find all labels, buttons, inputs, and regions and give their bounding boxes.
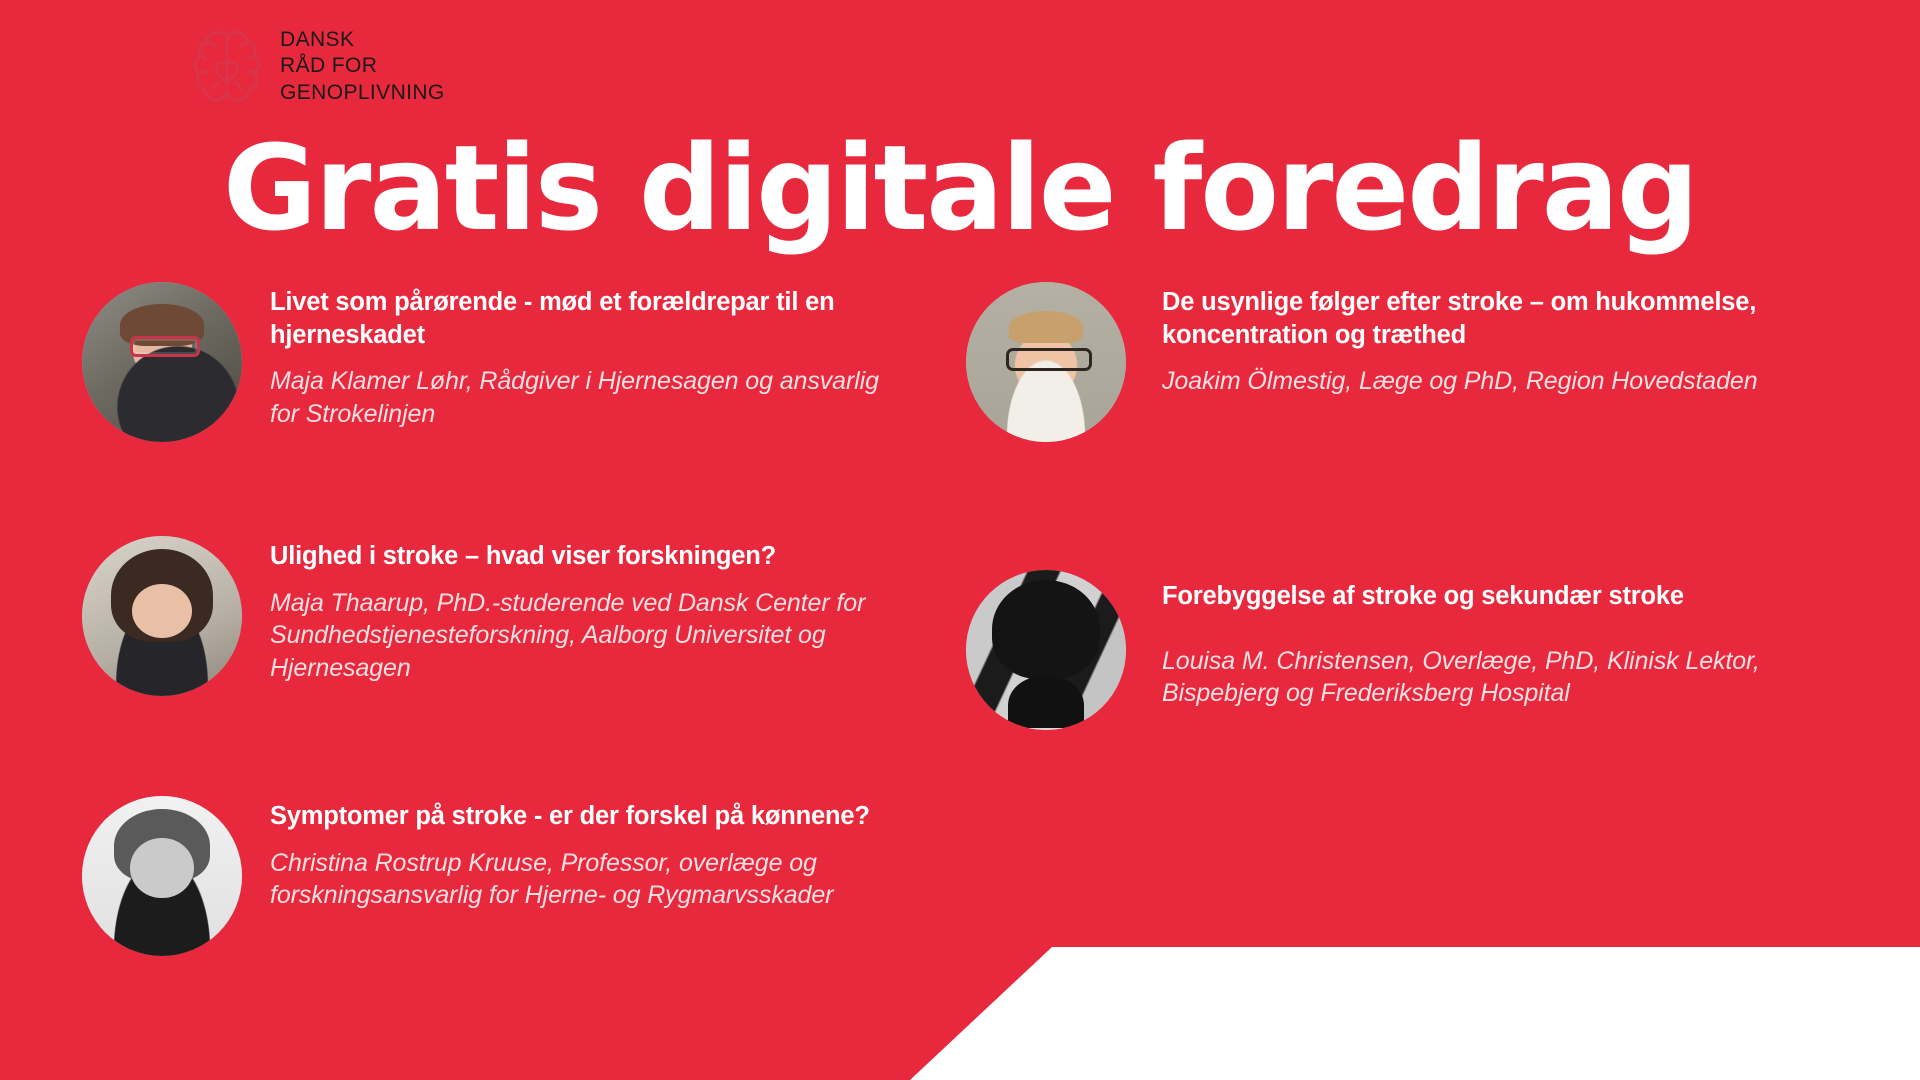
footer-logo-banner [910,947,1920,1080]
footer-logos: DANSK RÅD FOR GENOPLIVNING TrygFonden [190,0,833,133]
logo-trygfonden-part1: Tryg [501,36,624,97]
talk-card[interactable]: Livet som pårørende - mød et forældrepar… [82,282,912,482]
portrait-maja-thaarup [82,536,242,696]
talk-card[interactable]: Ulighed i stroke – hvad viser forskninge… [82,536,912,736]
logo-trygfonden[interactable]: TrygFonden [501,36,834,97]
talk-speaker: Christina Rostrup Kruuse, Professor, ove… [270,847,912,912]
talk-card[interactable]: Forebyggelse af stroke og sekundær strok… [966,570,1846,770]
talk-title: Livet som pårørende - mød et forældrepar… [270,286,912,351]
logo-trygfonden-part2: Fonden [623,36,833,97]
portrait-maja-klamer-lohr [82,282,242,442]
portrait-joakim-olmestig [966,282,1126,442]
portrait-louisa-m-christensen [966,570,1126,730]
talk-card[interactable]: Symptomer på stroke - er der forskel på … [82,796,912,996]
logo-line-1: DANSK [280,27,445,53]
talks-column-left: Livet som pårørende - mød et forældrepar… [82,282,912,996]
logo-line-3: GENOPLIVNING [280,80,445,106]
talk-card[interactable]: De usynlige følger efter stroke – om huk… [966,282,1846,482]
poster-canvas: Gratis digitale foredrag Livet som pårør… [0,0,1920,1080]
talks-column-right: De usynlige følger efter stroke – om huk… [966,282,1846,770]
talk-speaker: Louisa M. Christensen, Overlæge, PhD, Kl… [1162,645,1846,710]
talk-title: De usynlige følger efter stroke – om huk… [1162,286,1846,351]
talk-title: Symptomer på stroke - er der forskel på … [270,800,912,833]
brain-heart-icon [190,27,264,107]
logo-dansk-raad-wordmark: DANSK RÅD FOR GENOPLIVNING [280,27,445,105]
page-title: Gratis digitale foredrag [29,127,1891,251]
talk-speaker: Maja Klamer Løhr, Rådgiver i Hjernesagen… [270,365,912,430]
talk-speaker: Maja Thaarup, PhD.-studerende ved Dansk … [270,587,912,685]
talk-speaker: Joakim Ölmestig, Læge og PhD, Region Hov… [1162,365,1846,398]
logo-dansk-raad-for-genoplivning[interactable]: DANSK RÅD FOR GENOPLIVNING [190,27,445,107]
logo-line-2: RÅD FOR [280,53,445,79]
talk-title: Ulighed i stroke – hvad viser forskninge… [270,540,912,573]
portrait-christina-rostrup-kruuse [82,796,242,956]
talk-title: Forebyggelse af stroke og sekundær strok… [1162,580,1846,613]
